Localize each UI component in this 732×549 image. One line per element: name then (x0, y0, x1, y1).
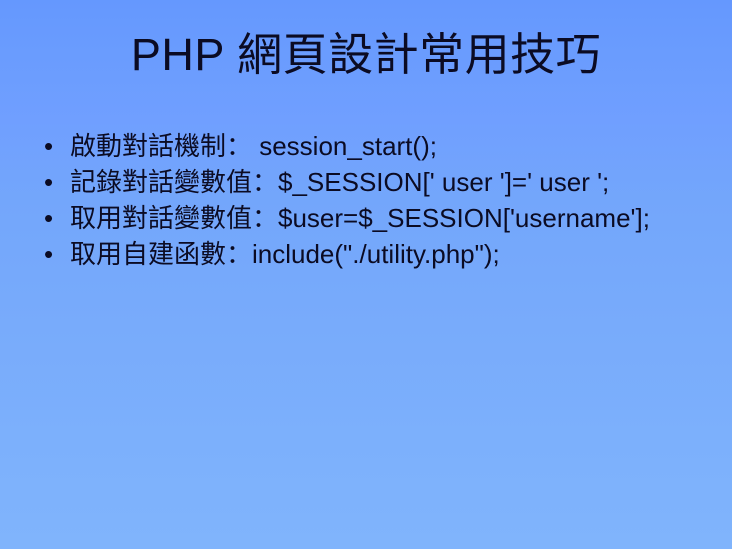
bullet-list-item: • 啟動對話機制： session_start(); (34, 129, 702, 164)
bullet-point-icon: • (44, 129, 53, 164)
bullet-point-icon: • (44, 201, 53, 236)
bullet-list-item: • 取用對話變數值：$user=$_SESSION['username']; (34, 201, 702, 236)
slide-title: PHP 網頁設計常用技巧 (40, 28, 692, 82)
bullet-list: • 啟動對話機制： session_start(); • 記錄對話變數值：$_S… (34, 129, 702, 272)
bullet-point-icon: • (44, 237, 53, 272)
slide-body-area: • 啟動對話機制： session_start(); • 記錄對話變數值：$_S… (34, 129, 702, 273)
bullet-item-text: 啟動對話機制： session_start(); (70, 129, 702, 164)
slide-title-area: PHP 網頁設計常用技巧 (40, 28, 692, 82)
bullet-item-text: 取用自建函數：include("./utility.php"); (70, 237, 702, 272)
bullet-point-icon: • (44, 165, 53, 200)
bullet-list-item: • 記錄對話變數值：$_SESSION[' user ']=' user '; (34, 165, 702, 200)
bullet-item-text: 記錄對話變數值：$_SESSION[' user ']=' user '; (70, 165, 702, 200)
presentation-slide: PHP 網頁設計常用技巧 • 啟動對話機制： session_start(); … (0, 0, 732, 549)
bullet-list-item: • 取用自建函數：include("./utility.php"); (34, 237, 702, 272)
bullet-item-text: 取用對話變數值：$user=$_SESSION['username']; (70, 201, 702, 236)
